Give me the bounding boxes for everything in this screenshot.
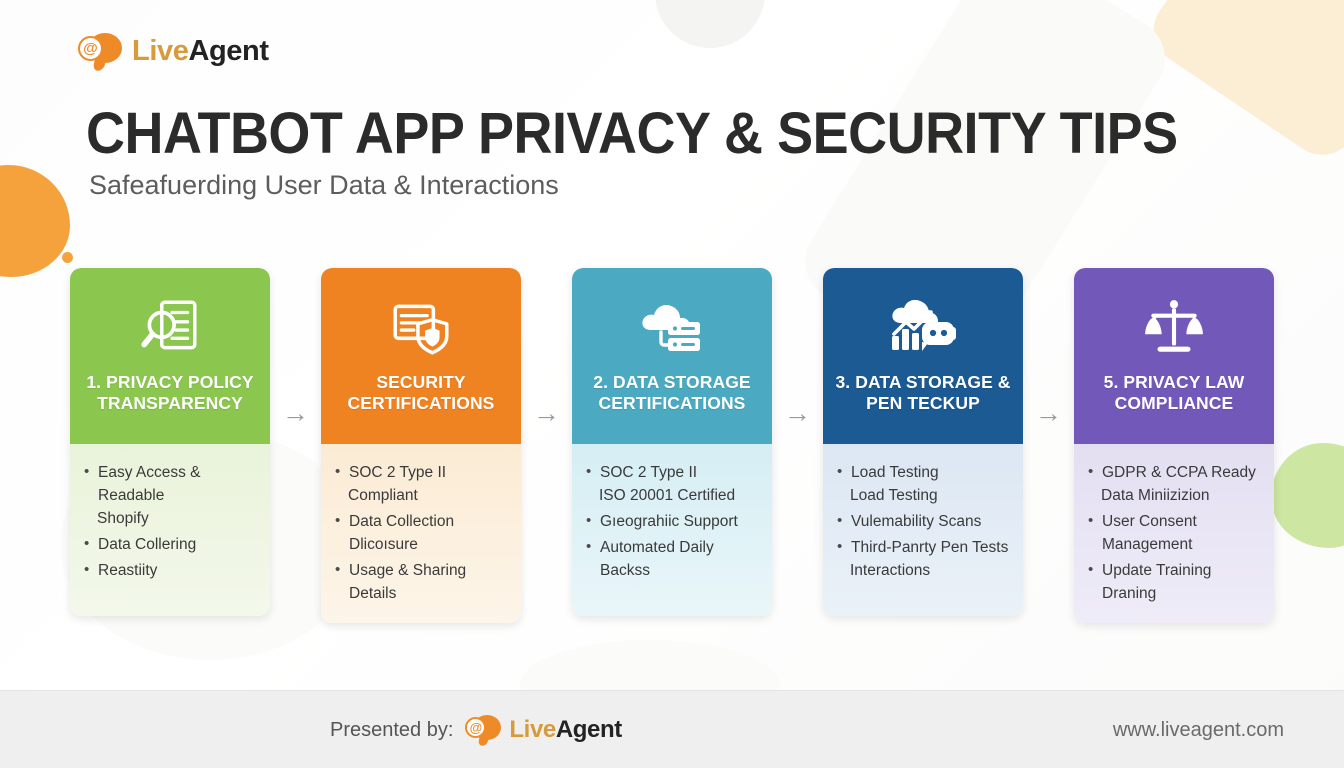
bullet-subtext: ISO 20001 Certified bbox=[599, 485, 762, 508]
card-3-header: 2. DATA STORAGE CERTIFICATIONS bbox=[572, 268, 772, 444]
card-5-bullet-list: GDPR & CCPA ReadyData MiniizizionUser Co… bbox=[1088, 462, 1264, 606]
list-item: User Consent Management bbox=[1088, 511, 1264, 557]
footer-website-url[interactable]: www.liveagent.com bbox=[1113, 691, 1284, 768]
bullet-text: Update Training Draning bbox=[1102, 562, 1211, 602]
bullet-text: Reastiity bbox=[98, 562, 157, 579]
card-2-header: SECURITY CERTIFICATIONS bbox=[321, 268, 521, 444]
footer-brand-name-agent: Agent bbox=[556, 716, 622, 743]
bullet-text: Vulemability Scans bbox=[851, 513, 981, 530]
list-item: Load TestingLoad Testing bbox=[837, 462, 1013, 508]
card-2-title: SECURITY CERTIFICATIONS bbox=[333, 372, 509, 414]
footer-liveagent-bubble-icon: @ bbox=[465, 715, 501, 745]
brand-name-live: Live bbox=[132, 35, 188, 67]
slide-footer: Presented by: @ LiveAgent www.liveagent.… bbox=[0, 690, 1344, 768]
infographic-slide: @ LiveAgent CHATBOT APP PRIVACY & SECURI… bbox=[0, 0, 1344, 768]
footer-brand-logo[interactable]: @ LiveAgent bbox=[465, 715, 621, 745]
card-1[interactable]: 1. PRIVACY POLICY TRANSPARENCYEasy Acces… bbox=[70, 268, 270, 616]
orange-dot-shape bbox=[62, 252, 73, 263]
flow-arrow-3: → bbox=[772, 268, 823, 618]
card-4[interactable]: 3. DATA STORAGE & PEN TECKUPLoad Testing… bbox=[823, 268, 1023, 616]
cloud-server-icon bbox=[637, 290, 707, 366]
card-4-header: 3. DATA STORAGE & PEN TECKUP bbox=[823, 268, 1023, 444]
card-1-header: 1. PRIVACY POLICY TRANSPARENCY bbox=[70, 268, 270, 444]
list-item: Gıeograhiic Support bbox=[586, 511, 762, 534]
flow-arrow-2: → bbox=[521, 268, 572, 618]
list-item: SOC 2 Type IICompliant bbox=[335, 462, 511, 508]
card-3-bullet-list: SOC 2 Type IIISO 20001 CertifiedGıeograh… bbox=[586, 462, 762, 583]
bullet-text: GDPR & CCPA Ready bbox=[1102, 464, 1256, 481]
page-title: CHATBOT APP PRIVACY & SECURITY TIPS bbox=[86, 104, 1178, 163]
cloud-analytics-chatbot-icon bbox=[884, 290, 962, 366]
card-2[interactable]: SECURITY CERTIFICATIONSSOC 2 Type IIComp… bbox=[321, 268, 521, 623]
soft-circle-shape-1 bbox=[655, 0, 765, 48]
flow-arrow-4: → bbox=[1023, 268, 1074, 618]
bullet-subtext: Shopify bbox=[97, 508, 260, 531]
card-row: 1. PRIVACY POLICY TRANSPARENCYEasy Acces… bbox=[70, 268, 1274, 618]
bullet-text: Gıeograhiic Support bbox=[600, 513, 738, 530]
bullet-text: Third-Panrty Pen Tests bbox=[851, 539, 1008, 556]
bullet-text: Data Collection Dlicoısure bbox=[349, 513, 454, 553]
bullet-subtext: Data Miniizizion bbox=[1101, 485, 1264, 508]
bullet-text: User Consent Management bbox=[1102, 513, 1197, 553]
card-3[interactable]: 2. DATA STORAGE CERTIFICATIONSSOC 2 Type… bbox=[572, 268, 772, 616]
flow-arrow-1: → bbox=[270, 268, 321, 618]
bullet-text: SOC 2 Type II bbox=[600, 464, 697, 481]
document-magnifier-icon bbox=[137, 290, 203, 366]
scales-of-justice-icon bbox=[1141, 290, 1207, 366]
card-4-body: Load TestingLoad TestingVulemability Sca… bbox=[823, 444, 1023, 616]
page-subtitle: Safeafuerding User Data & Interactions bbox=[89, 170, 559, 201]
card-5-header: 5. PRIVACY LAW COMPLIANCE bbox=[1074, 268, 1274, 444]
card-2-bullet-list: SOC 2 Type IICompliantData Collection Dl… bbox=[335, 462, 511, 606]
card-2-body: SOC 2 Type IICompliantData Collection Dl… bbox=[321, 444, 521, 623]
bullet-text: Automated Daily Backss bbox=[600, 539, 714, 579]
bullet-text: Easy Access & Readable bbox=[98, 464, 201, 504]
bullet-text: Usage & Sharing Details bbox=[349, 562, 466, 602]
card-1-body: Easy Access & ReadableShopifyData Coller… bbox=[70, 444, 270, 616]
card-5-body: GDPR & CCPA ReadyData MiniizizionUser Co… bbox=[1074, 444, 1274, 623]
card-5-title: 5. PRIVACY LAW COMPLIANCE bbox=[1086, 372, 1262, 414]
green-blob-shape bbox=[1271, 443, 1344, 548]
list-item: Reastiity bbox=[84, 560, 260, 583]
card-5[interactable]: 5. PRIVACY LAW COMPLIANCEGDPR & CCPA Rea… bbox=[1074, 268, 1274, 623]
list-item: Easy Access & ReadableShopify bbox=[84, 462, 260, 531]
list-item: Data Collection Dlicoısure bbox=[335, 511, 511, 557]
brand-name: LiveAgent bbox=[132, 37, 269, 66]
at-symbol-icon: @ bbox=[78, 36, 103, 61]
footer-brand-name-live: Live bbox=[509, 716, 555, 743]
list-item: Update Training Draning bbox=[1088, 560, 1264, 606]
card-4-bullet-list: Load TestingLoad TestingVulemability Sca… bbox=[837, 462, 1013, 583]
list-item: Vulemability Scans bbox=[837, 511, 1013, 534]
document-shield-icon bbox=[388, 290, 454, 366]
bullet-text: SOC 2 Type II bbox=[349, 464, 446, 481]
bullet-text: Data Collering bbox=[98, 536, 196, 553]
presented-by-label: Presented by: bbox=[330, 719, 453, 742]
liveagent-bubble-icon: @ bbox=[78, 33, 122, 69]
footer-brand-block: Presented by: @ LiveAgent bbox=[330, 691, 622, 768]
card-1-bullet-list: Easy Access & ReadableShopifyData Coller… bbox=[84, 462, 260, 583]
list-item: GDPR & CCPA ReadyData Miniizizion bbox=[1088, 462, 1264, 508]
card-4-title: 3. DATA STORAGE & PEN TECKUP bbox=[835, 372, 1011, 414]
brand-logo[interactable]: @ LiveAgent bbox=[78, 33, 269, 69]
card-3-body: SOC 2 Type IIISO 20001 CertifiedGıeograh… bbox=[572, 444, 772, 616]
list-item: Automated Daily Backss bbox=[586, 537, 762, 583]
list-item: Usage & Sharing Details bbox=[335, 560, 511, 606]
bullet-subtext: Load Testing bbox=[850, 485, 1013, 508]
footer-brand-name: LiveAgent bbox=[509, 718, 621, 742]
bullet-text: Load Testing bbox=[851, 464, 939, 481]
list-item: Third-Panrty Pen TestsInteractions bbox=[837, 537, 1013, 583]
brand-name-agent: Agent bbox=[188, 35, 268, 67]
card-3-title: 2. DATA STORAGE CERTIFICATIONS bbox=[584, 372, 760, 414]
list-item: SOC 2 Type IIISO 20001 Certified bbox=[586, 462, 762, 508]
bullet-subtext: Compliant bbox=[348, 485, 511, 508]
orange-blob-shape bbox=[0, 165, 70, 277]
card-1-title: 1. PRIVACY POLICY TRANSPARENCY bbox=[82, 372, 258, 414]
bullet-subtext: Interactions bbox=[850, 560, 1013, 583]
list-item: Data Collering bbox=[84, 534, 260, 557]
